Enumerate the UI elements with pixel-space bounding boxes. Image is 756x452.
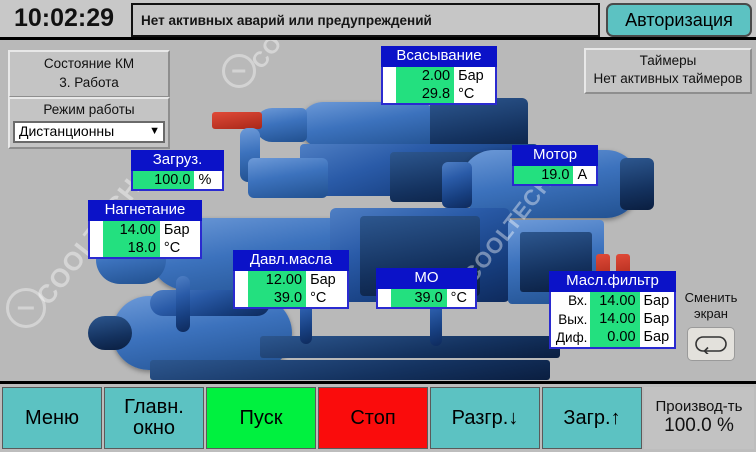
readout-unit: °C (447, 289, 476, 308)
start-button[interactable]: Пуск (206, 387, 316, 449)
readout-oil-pressure: Давл.масла 12.00 Бар 39.0 °C (233, 250, 349, 309)
main-window-button[interactable]: Главн. окно (104, 387, 204, 449)
readout-row: 29.8 °C (382, 85, 496, 104)
readout-row: 18.0 °C (89, 239, 201, 258)
operating-mode-value: Дистанционны (19, 123, 114, 139)
readout-suction-title: Всасывание (381, 46, 497, 67)
clock-display: 10:02:29 (0, 0, 128, 39)
readout-unit: Бар (306, 271, 348, 289)
hmi-screen: 10:02:29 Нет активных аварий или предупр… (0, 0, 756, 452)
readout-value: 14.00 (103, 221, 160, 239)
readout-discharge-title: Нагнетание (88, 200, 202, 221)
main-window-label-line1: Главн. (124, 397, 184, 418)
timers-title: Таймеры (588, 52, 748, 70)
readout-label (377, 289, 391, 308)
readout-oil-filter-title: Масл.фильтр (549, 271, 676, 292)
change-screen-button[interactable] (687, 327, 735, 361)
timers-panel: Таймеры Нет активных таймеров (584, 48, 752, 94)
readout-unit: Бар (160, 221, 201, 239)
change-screen-control: Сменить экран (672, 290, 750, 361)
readout-unit: °C (160, 239, 201, 258)
menu-button[interactable]: Меню (2, 387, 102, 449)
readout-unit: A (573, 166, 597, 185)
readout-value: 18.0 (103, 239, 160, 258)
readout-label (234, 289, 248, 308)
readout-unit: Бар (640, 310, 675, 328)
operating-mode-panel: Режим работы Дистанционны ▼ (8, 97, 170, 149)
bottom-toolbar: Меню Главн. окно Пуск Стоп Разгр.↓ Загр.… (0, 381, 756, 452)
change-screen-label-line1: Сменить (672, 290, 750, 306)
capacity-indicator: Производ-ть 100.0 % (644, 387, 754, 449)
readout-label (234, 271, 248, 289)
readout-label: Вх. (550, 292, 590, 310)
readout-row: 100.0 % (132, 171, 223, 190)
compressor-state-panel: Состояние КМ 3. Работа (8, 50, 170, 98)
readout-value: 14.00 (590, 292, 639, 310)
readout-motor-title: Мотор (512, 145, 598, 166)
readout-unit: °C (454, 85, 496, 104)
capacity-label: Производ-ть (656, 398, 743, 415)
readout-oil-pressure-title: Давл.масла (233, 250, 349, 271)
readout-oil-filter: Масл.фильтр Вх. 14.00 Бар Вых. 14.00 Бар… (549, 271, 676, 349)
timers-value: Нет активных таймеров (588, 70, 748, 88)
readout-motor: Мотор 19.0 A (512, 145, 598, 186)
readout-row: 12.00 Бар (234, 271, 348, 289)
readout-label: Вых. (550, 310, 590, 328)
readout-unit: Бар (640, 328, 675, 347)
readout-value: 2.00 (396, 67, 454, 85)
authorization-button[interactable]: Авторизация (606, 3, 752, 37)
readout-unit: °C (306, 289, 348, 308)
readout-load-title: Загруз. (131, 150, 224, 171)
readout-row: 39.0 °C (234, 289, 348, 308)
main-window-label-line2: окно (133, 418, 175, 439)
compressor-state-value: 3. Работа (12, 74, 166, 93)
stop-button[interactable]: Стоп (318, 387, 428, 449)
readout-value: 14.00 (590, 310, 639, 328)
readout-discharge: Нагнетание 14.00 Бар 18.0 °C (88, 200, 202, 259)
readout-mo: МО 39.0 °C (376, 268, 477, 309)
readout-row: 14.00 Бар (89, 221, 201, 239)
chevron-down-icon: ▼ (149, 125, 160, 137)
readout-row: Диф. 0.00 Бар (550, 328, 675, 347)
readout-unit: Бар (640, 292, 675, 310)
readout-row: 39.0 °C (377, 289, 476, 308)
readout-label: Диф. (550, 328, 590, 347)
readout-value: 19.0 (513, 166, 573, 185)
operating-mode-title: Режим работы (13, 101, 165, 120)
readout-value: 0.00 (590, 328, 639, 347)
readout-mo-title: МО (376, 268, 477, 289)
readout-label (89, 239, 103, 258)
readout-load: Загруз. 100.0 % (131, 150, 224, 191)
readout-value: 39.0 (391, 289, 447, 308)
alarm-status-bar: Нет активных аварий или предупреждений (131, 3, 600, 37)
operating-mode-dropdown[interactable]: Дистанционны ▼ (13, 121, 165, 143)
readout-label (382, 85, 396, 104)
capacity-value: 100.0 % (664, 415, 734, 438)
readout-row: Вх. 14.00 Бар (550, 292, 675, 310)
readout-row: 19.0 A (513, 166, 597, 185)
top-status-bar: 10:02:29 Нет активных аварий или предупр… (0, 0, 756, 40)
readout-label (382, 67, 396, 85)
main-graphic-area: COOLTECH COOLTECH COOLTECH Состояние КМ … (0, 40, 756, 381)
loop-arrow-icon (694, 334, 728, 354)
readout-value: 39.0 (248, 289, 306, 308)
compressor-state-title: Состояние КМ (12, 55, 166, 74)
unload-button[interactable]: Разгр.↓ (430, 387, 540, 449)
load-button[interactable]: Загр.↑ (542, 387, 642, 449)
readout-value: 100.0 (132, 171, 194, 190)
change-screen-label-line2: экран (672, 306, 750, 322)
readout-suction: Всасывание 2.00 Бар 29.8 °C (381, 46, 497, 105)
readout-value: 12.00 (248, 271, 306, 289)
readout-value: 29.8 (396, 85, 454, 104)
readout-unit: Бар (454, 67, 496, 85)
readout-row: 2.00 Бар (382, 67, 496, 85)
readout-unit: % (194, 171, 223, 190)
readout-label (89, 221, 103, 239)
readout-row: Вых. 14.00 Бар (550, 310, 675, 328)
